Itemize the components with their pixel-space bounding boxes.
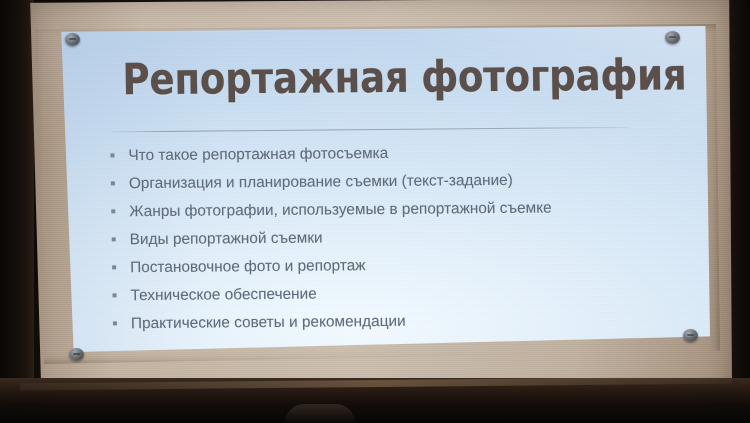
list-item: Что такое репортажная фотосъемка — [107, 141, 677, 165]
dark-wall-left — [0, 0, 34, 423]
screw-icon — [683, 329, 698, 342]
list-item: Организация и планирование съемки (текст… — [108, 169, 678, 193]
slide: Репортажная фотография Что такое репорта… — [56, 23, 713, 355]
list-item: Виды репортажной съемки — [109, 225, 679, 249]
screw-icon — [665, 31, 680, 44]
photo-scene: Репортажная фотография Что такое репорта… — [0, 0, 750, 423]
ledge-object-silhouette — [285, 404, 355, 423]
screw-icon — [65, 33, 80, 46]
slide-title: Репортажная фотография — [122, 54, 641, 104]
list-item: Постановочное фото и репортаж — [109, 253, 679, 277]
list-item: Техническое обеспечение — [109, 281, 679, 305]
screw-icon — [69, 348, 84, 361]
list-item: Практические советы и рекомендации — [110, 309, 680, 333]
slide-bullet-list: Что такое репортажная фотосъемка Организ… — [107, 141, 680, 342]
list-item: Жанры фотографии, используемые в репорта… — [108, 197, 678, 221]
